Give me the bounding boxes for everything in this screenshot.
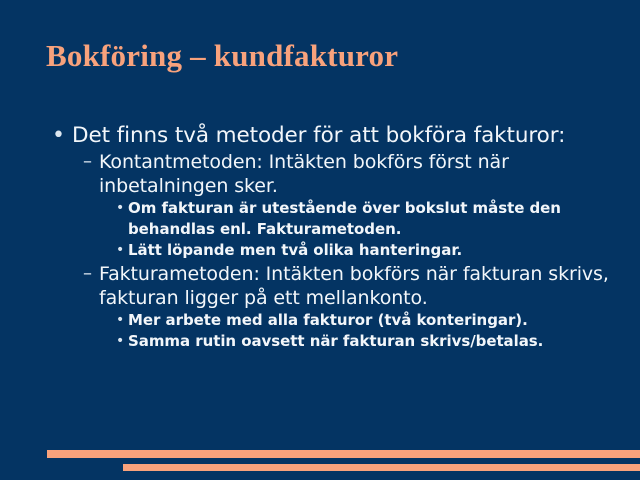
list-item: • Mer arbete med alla fakturor (två kont…	[116, 310, 612, 331]
list-item-text: Fakturametoden: Intäkten bokförs när fak…	[99, 262, 612, 310]
footer-accent-bar-upper	[47, 450, 640, 458]
bullet-dot-icon: •	[116, 240, 128, 261]
bullet-dash-icon: –	[82, 262, 99, 286]
list-item: – Fakturametoden: Intäkten bokförs när f…	[82, 262, 612, 310]
bullet-dot-icon: •	[116, 331, 128, 352]
list-item-text: Det finns två metoder för att bokföra fa…	[70, 122, 612, 149]
bullet-dash-icon: –	[82, 150, 99, 174]
list-item: • Om fakturan är utestående över bokslut…	[116, 198, 612, 240]
list-item-text: Lätt löpande men två olika hanteringar.	[128, 240, 612, 261]
list-item-text: Om fakturan är utestående över bokslut m…	[128, 198, 612, 240]
bullet-dot-icon: •	[116, 310, 128, 331]
list-item-text: Mer arbete med alla fakturor (två konter…	[128, 310, 612, 331]
list-item: – Kontantmetoden: Intäkten bokförs först…	[82, 150, 612, 198]
bullet-dot-icon: •	[44, 122, 70, 149]
list-item-text: Kontantmetoden: Intäkten bokförs först n…	[99, 150, 612, 198]
list-item-text: Samma rutin oavsett när fakturan skrivs/…	[128, 331, 612, 352]
list-item: • Samma rutin oavsett när fakturan skriv…	[116, 331, 612, 352]
slide-body: • Det finns två metoder för att bokföra …	[44, 122, 612, 352]
page-title: Bokföring – kundfakturor	[46, 38, 606, 74]
bullet-dot-icon: •	[116, 198, 128, 219]
slide: Bokföring – kundfakturor • Det finns två…	[0, 0, 640, 480]
footer-accent-bar-lower	[123, 464, 640, 471]
list-item: • Lätt löpande men två olika hanteringar…	[116, 240, 612, 261]
list-item: • Det finns två metoder för att bokföra …	[44, 122, 612, 149]
